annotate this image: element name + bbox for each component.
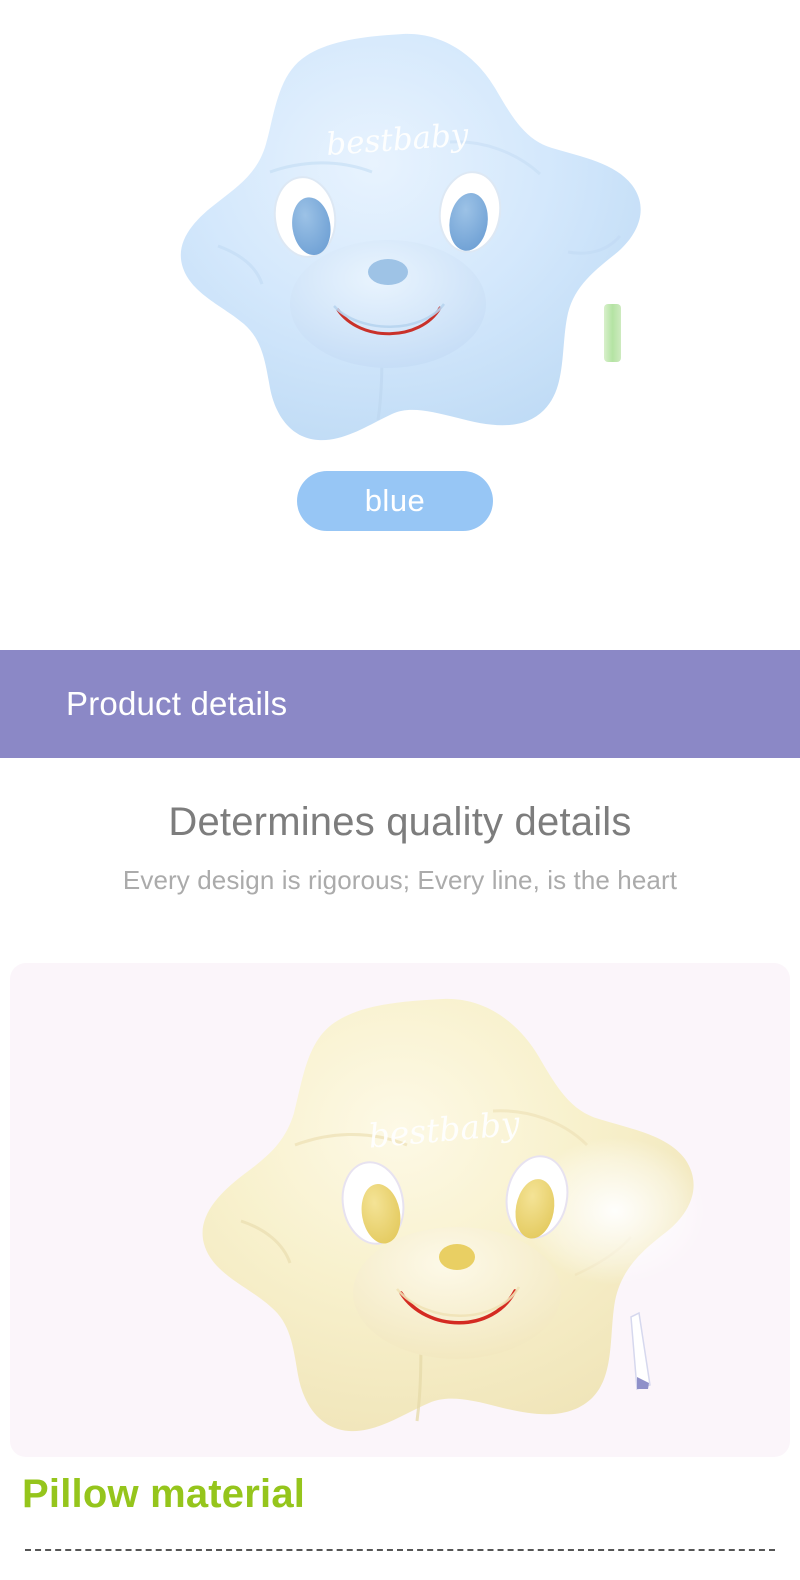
- snout-icon: [290, 240, 486, 368]
- quality-text-block: Determines quality details Every design …: [0, 758, 800, 896]
- color-badge[interactable]: blue: [297, 471, 493, 531]
- pillow-material-heading: Pillow material: [22, 1472, 305, 1517]
- blue-pillow-illustration: bestbaby: [120, 22, 680, 462]
- snout-icon: [353, 1227, 561, 1359]
- quality-headline: Determines quality details: [0, 800, 800, 845]
- quality-subheadline: Every design is rigorous; Every line, is…: [0, 865, 800, 896]
- section-divider: [25, 1549, 775, 1551]
- fabric-tag-icon: [604, 304, 621, 362]
- yellow-pillow-photo: bestbaby: [145, 985, 725, 1457]
- hero-section: bestbaby blue: [0, 0, 800, 650]
- product-details-banner: Product details: [0, 650, 800, 758]
- product-details-title: Product details: [66, 685, 287, 723]
- detail-photo-panel: bestbaby: [10, 963, 790, 1457]
- color-badge-label: blue: [365, 483, 426, 519]
- care-tag-icon: [631, 1313, 650, 1389]
- yellow-pillow-illustration: bestbaby: [145, 985, 725, 1457]
- nose-icon: [439, 1244, 475, 1270]
- pillow-body-shape: [181, 34, 641, 440]
- nose-icon: [368, 259, 408, 285]
- blue-pillow-photo: bestbaby: [120, 22, 680, 462]
